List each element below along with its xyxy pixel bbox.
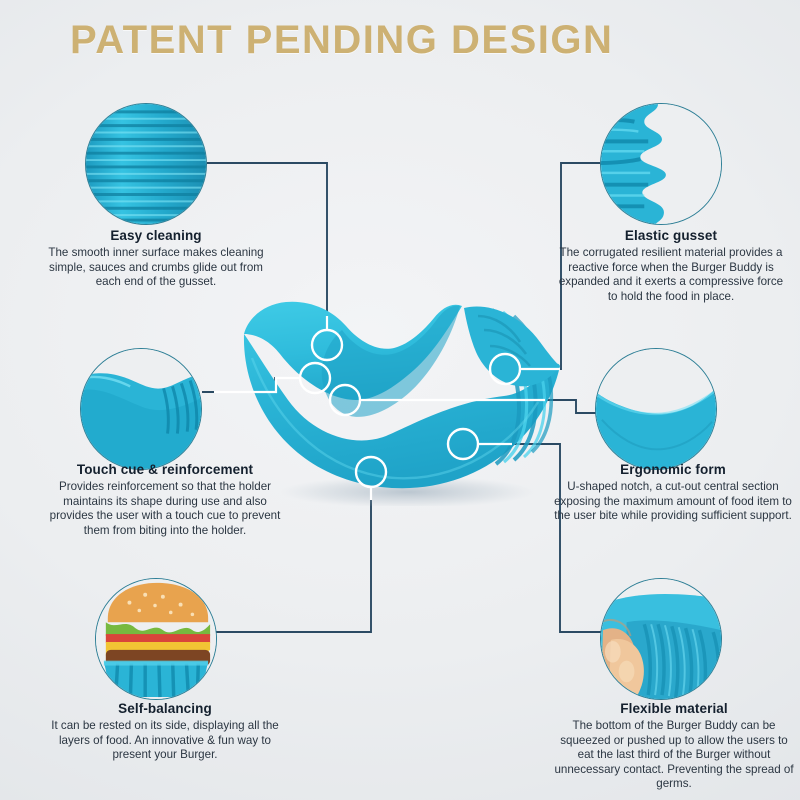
thumbnail-easy-cleaning[interactable] [85, 103, 207, 225]
infographic-canvas: PATENT PENDING DESIGN [0, 0, 800, 800]
callout-title-ergonomic-form: Ergonomic form [552, 462, 794, 477]
callout-body-elastic-gusset: The corrugated resilient material provid… [555, 246, 787, 304]
thumbnail-ergonomic-form[interactable] [595, 348, 717, 470]
callout-self-balancing: Self-balancing It can be rested on its s… [42, 701, 288, 763]
callout-elastic-gusset: Elastic gusset The corrugated resilient … [555, 228, 787, 304]
reinforced-rim-icon [81, 349, 201, 469]
callout-title-touch-cue: Touch cue & reinforcement [40, 462, 290, 477]
u-shaped-notch-icon [596, 349, 716, 469]
callout-flexible-material: Flexible material The bottom of the Burg… [552, 701, 796, 792]
callout-body-easy-cleaning: The smooth inner surface makes cleaning … [38, 246, 274, 290]
callout-ergonomic-form: Ergonomic form U-shaped notch, a cut-out… [552, 462, 794, 524]
callout-body-ergonomic-form: U-shaped notch, a cut-out central sectio… [552, 480, 794, 524]
callout-title-elastic-gusset: Elastic gusset [555, 228, 787, 243]
callout-title-flexible-material: Flexible material [552, 701, 796, 716]
callout-touch-cue: Touch cue & reinforcement Provides reinf… [40, 462, 290, 538]
callout-body-touch-cue: Provides reinforcement so that the holde… [40, 480, 290, 538]
corrugated-gusset-icon [601, 104, 721, 224]
thumbnail-elastic-gusset[interactable] [600, 103, 722, 225]
ribbed-inner-surface-icon [86, 104, 206, 224]
thumbnail-self-balancing[interactable] [95, 578, 217, 700]
fingers-pushing-base-icon [601, 579, 721, 699]
thumbnail-touch-cue[interactable] [80, 348, 202, 470]
page-title: PATENT PENDING DESIGN [70, 18, 613, 63]
callout-title-easy-cleaning: Easy cleaning [38, 228, 274, 243]
callout-body-self-balancing: It can be rested on its side, displaying… [42, 719, 288, 763]
callout-title-self-balancing: Self-balancing [42, 701, 288, 716]
burger-in-holder-icon [96, 579, 216, 699]
product-right-lip [464, 306, 560, 386]
callout-easy-cleaning: Easy cleaning The smooth inner surface m… [38, 228, 274, 290]
callout-body-flexible-material: The bottom of the Burger Buddy can be sq… [552, 719, 796, 792]
thumbnail-flexible-material[interactable] [600, 578, 722, 700]
